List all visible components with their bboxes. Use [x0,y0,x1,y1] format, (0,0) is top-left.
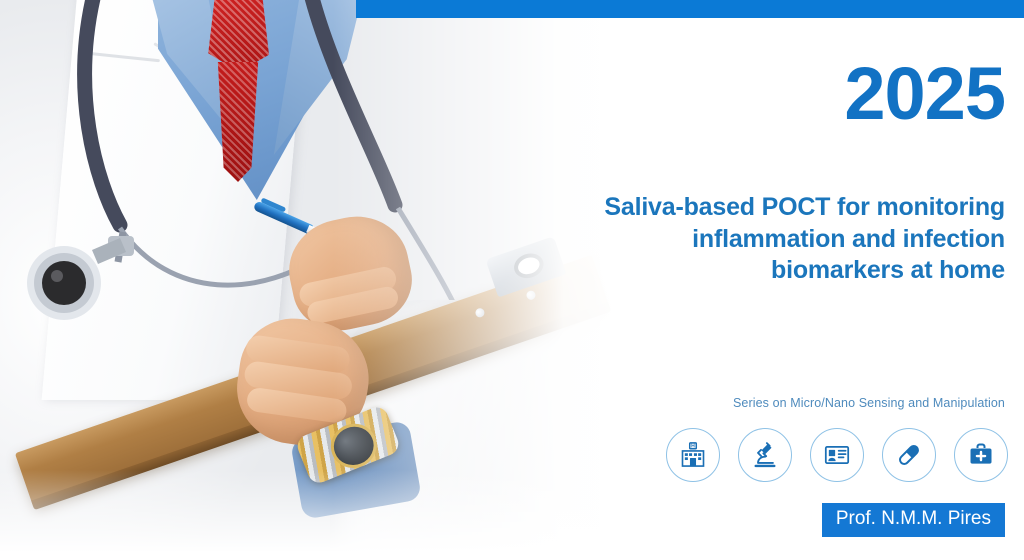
microscope-icon[interactable] [738,428,792,482]
title-line-2: inflammation and infection [545,224,1005,256]
title-line-3: biomarkers at home [545,255,1005,287]
medical-bag-icon[interactable] [954,428,1008,482]
title-line-1: Saliva-based POCT for monitoring [545,192,1005,224]
icon-row: H [666,428,1008,482]
author-badge: Prof. N.M.M. Pires [822,503,1005,537]
pill-capsule-icon[interactable] [882,428,936,482]
page-title: Saliva-based POCT for monitoring inflamm… [545,192,1005,287]
year-heading: 2025 [844,57,1005,131]
hospital-icon[interactable]: H [666,428,720,482]
svg-text:H: H [691,444,695,450]
series-label: Series on Micro/Nano Sensing and Manipul… [733,396,1005,410]
presentation-slide: 2025 Saliva-based POCT for monitoring in… [0,0,1024,560]
id-card-icon[interactable] [810,428,864,482]
content-panel: 2025 Saliva-based POCT for monitoring in… [544,0,1024,560]
